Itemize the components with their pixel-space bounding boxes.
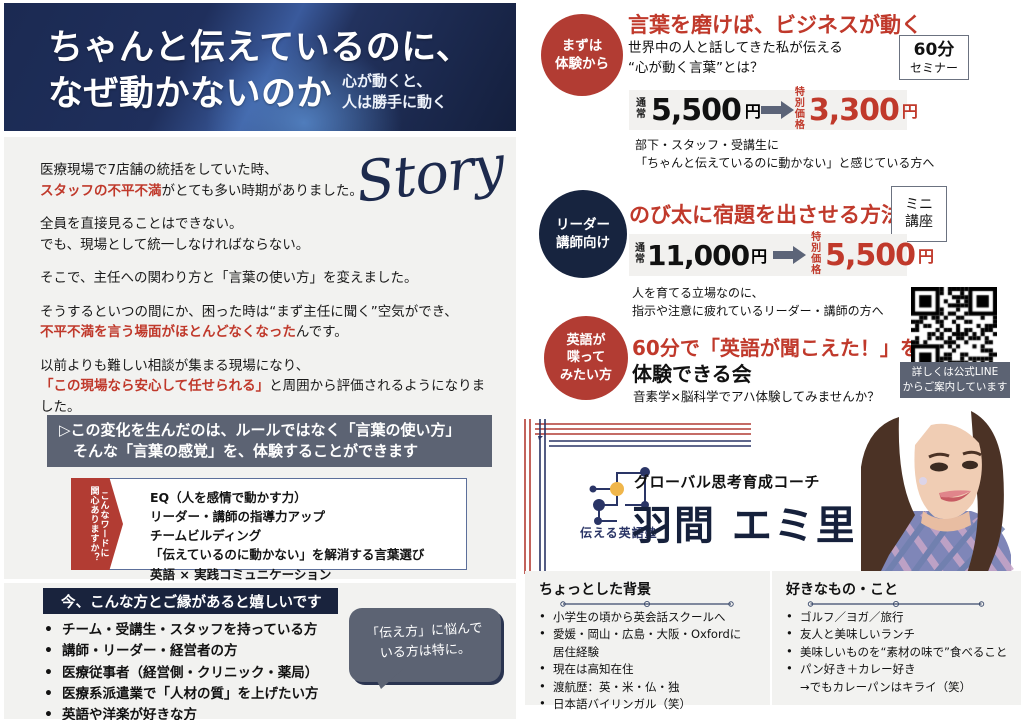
story-p4-b: んです。 [296, 324, 348, 340]
keyword-flag-line2: 関心ありますか？ [89, 486, 98, 562]
offer-1-special-price: 3,300 [809, 93, 899, 128]
offer-2-type-line2: 講座 [905, 214, 933, 231]
offer-3-title-line1: 60分で「英語が聞こえた！」を [632, 332, 920, 361]
favorites-list: ゴルフ／ヨガ／旅行 友人と美味しいランチ 美味しいものを“素材の味で”食べること… [782, 609, 1007, 696]
list-item: 愛媛・岡山・広島・大阪・Oxfordに [535, 626, 741, 643]
offer-1-subtitle: 世界中の人と話してきた私が伝える “心が動く言葉”とは？ [628, 38, 843, 79]
line-caption-line2: からご案内しています [903, 380, 1008, 395]
offer-2-badge: リーダー 講師向け [539, 190, 627, 278]
list-item: チーム・受講生・スタッフを持っている方 [36, 620, 319, 641]
keyword-item: EQ（人を感情で動かす力） [150, 488, 424, 507]
offer-1-note-line2: 「ちゃんと伝えているのに動かない」と感じている方へ [635, 154, 934, 172]
offer-1-special-yen: 円 [902, 98, 918, 122]
offer-1-duration-tag: 60分 セミナー [899, 35, 969, 80]
favorites-heading: 好きなもの・こと [786, 579, 898, 599]
list-item: 現在は高知在住 [535, 661, 741, 678]
story-paragraph-1: 医療現場で7店舗の統括をしていた時、 スタッフの不平不満がとても多い時期がありま… [40, 160, 490, 201]
change-statement-band: ▷この変化を生んだのは、ルールではなく「言葉の使い方」 そんな「言葉の感覚」を、… [47, 415, 492, 467]
offer-2-special-label: 特別 価格 [811, 233, 821, 276]
list-item: 小学生の頃から英会話スクールへ [535, 609, 741, 626]
offer-2-badge-line2: 講師向け [556, 234, 610, 252]
offer-1-price-row: 通 常 5,500 円 特別 価格 3,300 円 [629, 90, 907, 130]
change-statement-line2: そんな「言葉の感覚」を、体験することができます [59, 441, 492, 462]
profile-section: 伝える英語塾 グローバル思考育成コーチ 羽間 エミ里 EMILY [522, 409, 1024, 579]
coach-photo [853, 409, 1024, 579]
offer-1-normal-yen: 円 [745, 98, 761, 122]
offer-1-subtitle-line2: “心が動く言葉”とは？ [628, 58, 843, 78]
line-caption: 詳しくは公式LINE からご案内しています [900, 362, 1010, 398]
list-item: 渡航歴：英・米・仏・独 [535, 679, 741, 696]
offer-2-special-label-1: 特別 [811, 233, 821, 255]
keyword-flag: 関心ありますか？ こんなワードに [71, 478, 123, 570]
story-paragraph-2: 全員を直接見ることはできない。 でも、現場として統一しなければならない。 [40, 214, 490, 255]
coach-role: グローバル思考育成コーチ [634, 471, 820, 492]
list-item: ゴルフ／ヨガ／旅行 [782, 609, 1007, 626]
keyword-list: EQ（人を感情で動かす力） リーダー・講師の指導力アップ チームビルディング 「… [150, 488, 424, 584]
offer-2-special-yen: 円 [918, 243, 934, 267]
offer-3-title-line2: 体験できる会 [632, 358, 752, 387]
offer-3-badge: 英語が 喋って みたい方 [544, 316, 628, 400]
offer-2-title: のび太に宿題を出させる方法 [629, 199, 902, 229]
story-panel: Story 医療現場で7店舗の統括をしていた時、 スタッフの不平不満がとても多い… [4, 137, 516, 579]
hero-subheadline: 心が動くと、 人は勝手に動く [342, 71, 447, 114]
list-item: 講師・リーダー・経営者の方 [36, 641, 319, 662]
offer-2-normal-yen: 円 [751, 243, 767, 267]
list-item: 友人と美味しいランチ [782, 626, 1007, 643]
offer-2-price-row: 通 常 11,000 円 特別 価格 5,500 円 [629, 234, 907, 276]
offer-1-special-label: 特別 価格 [795, 88, 805, 131]
flyer-page: ちゃんと伝えているのに、 なぜ動かないのか 心が動くと、 人は勝手に動く Sto… [0, 0, 1024, 723]
offer-2-note-line2: 指示や注意に疲れているリーダー・講師の方へ [632, 302, 884, 320]
keyword-box: 関心ありますか？ こんなワードに EQ（人を感情で動かす力） リーダー・講師の指… [71, 478, 467, 570]
list-item: 医療従事者（経営側・クリニック・薬局） [36, 663, 319, 684]
story-text: 医療現場で7店舗の統括をしていた時、 スタッフの不平不満がとても多い時期がありま… [40, 160, 490, 430]
story-p4-a: そうするといつの間にか、困った時は“まず主任に聞く”空気ができ、 [40, 304, 458, 320]
arrow-right-icon [761, 100, 795, 120]
keyword-flag-line1: こんなワードに [99, 491, 108, 558]
hero-subheadline-line2: 人は勝手に動く [342, 92, 447, 113]
story-p1-highlight: スタッフの不平不満 [40, 183, 162, 199]
offer-2-normal-label: 通 常 [635, 244, 645, 266]
story-paragraph-5: 以前よりも難しい相談が集まる現場になり、 「この現場なら安心して任せられる」と周… [40, 356, 490, 418]
story-p4-highlight: 不平不満を言う場面がほとんどなくなった [40, 324, 296, 340]
list-item: 居住経験 [535, 644, 741, 661]
offer-1-normal-label: 通 常 [636, 99, 646, 121]
background-heading: ちょっとした背景 [539, 579, 651, 599]
story-p1-a: 医療現場で7店舗の統括をしていた時、 [40, 162, 278, 178]
speech-bubble: 「伝え方」に悩んで いる方は特に。 [349, 608, 501, 682]
story-p1-b: がとても多い時期がありました。 [162, 183, 363, 199]
list-item: →でもカレーパンはキライ（笑） [782, 679, 1007, 696]
offer-1-normal-label-2: 常 [636, 110, 646, 121]
offer-3-note: 音素学×脳科学でアハ体験してみませんか？ [633, 388, 880, 407]
hero-headline-line2: なぜ動かないのか [48, 65, 332, 116]
list-item: 美味しいものを“素材の味で”食べること [782, 644, 1007, 661]
offer-2-special-price: 5,500 [825, 238, 915, 273]
change-statement-line1: ▷この変化を生んだのは、ルールではなく「言葉の使い方」 [59, 420, 492, 441]
ideal-client-list: チーム・受講生・スタッフを持っている方 講師・リーダー・経営者の方 医療従事者（… [36, 620, 319, 727]
list-item: 日本語バイリンガル（笑） [535, 696, 741, 713]
offer-1-badge-line2: 体験から [555, 55, 609, 73]
keyword-item: リーダー・講師の指導力アップ [150, 507, 424, 526]
divider-ornament [531, 601, 763, 607]
offer-2-type-line1: ミニ [905, 197, 933, 214]
list-item: 医療系派遣業で「人材の質」を上げたい方 [36, 684, 319, 705]
list-item: パン好き＋カレー好き [782, 661, 1007, 678]
speech-bubble-text: 「伝え方」に悩んで いる方は特に。 [347, 604, 503, 686]
keyword-item: チームビルディング [150, 526, 424, 545]
background-list: 小学生の頃から英会話スクールへ 愛媛・岡山・広島・大阪・Oxfordに 居住経験… [535, 609, 741, 714]
story-p5-a: 以前よりも難しい相談が集まる現場になり、 [40, 358, 309, 374]
offer-3-badge-line2: 喋って [567, 349, 605, 366]
qr-code-icon[interactable] [911, 287, 997, 373]
arrow-right-icon [773, 245, 807, 265]
ideal-client-heading: 今、こんな方とご縁があると嬉しいです [43, 588, 338, 614]
hero-banner: ちゃんと伝えているのに、 なぜ動かないのか 心が動くと、 人は勝手に動く [4, 3, 516, 131]
offer-2-special-label-2: 価格 [811, 255, 821, 277]
offer-1-duration-value: 60分 [914, 40, 955, 61]
right-column: まずは 体験から 言葉を磨けば、ビジネスが動く 世界中の人と話してきた私が伝える… [522, 0, 1024, 723]
offer-2-note-line1: 人を育てる立場なのに、 [632, 284, 884, 302]
left-column: ちゃんと伝えているのに、 なぜ動かないのか 心が動くと、 人は勝手に動く Sto… [0, 0, 520, 723]
offer-1-subtitle-line1: 世界中の人と話してきた私が伝える [628, 38, 843, 58]
offer-2-note: 人を育てる立場なのに、 指示や注意に疲れているリーダー・講師の方へ [632, 284, 884, 320]
story-p5-highlight: 「この現場なら安心して任せられる」 [40, 378, 269, 394]
offer-1-title: 言葉を磨けば、ビジネスが動く [628, 9, 922, 39]
keyword-item: 英語 × 実践コミュニケーション [150, 565, 424, 584]
story-paragraph-3: そこで、主任への関わり方と「言葉の使い方」を変えました。 [40, 268, 490, 289]
hero-headline-line1: ちゃんと伝えているのに、 [48, 19, 471, 70]
offer-3-badge-line3: みたい方 [560, 367, 612, 384]
background-box: ちょっとした背景 小学生の頃から英会話スクールへ 愛媛・岡山・広島・大阪・Oxf… [525, 571, 770, 705]
offer-1-special-label-2: 価格 [795, 110, 805, 132]
keyword-item: 「伝えているのに動かない」を解消する言葉選び [150, 545, 424, 564]
line-caption-line1: 詳しくは公式LINE [912, 365, 998, 380]
story-p3: そこで、主任への関わり方と「言葉の使い方」を変えました。 [40, 270, 417, 286]
offer-1-note: 部下・スタッフ・受講生に 「ちゃんと伝えているのに動かない」と感じている方へ [635, 136, 934, 172]
hero-subheadline-line1: 心が動くと、 [342, 71, 447, 92]
offer-1-badge-line1: まずは [562, 37, 603, 55]
offer-2-badge-line1: リーダー [556, 216, 610, 234]
offer-1-badge: まずは 体験から [541, 14, 623, 96]
story-paragraph-4: そうするといつの間にか、困った時は“まず主任に聞く”空気ができ、 不平不満を言う… [40, 302, 490, 343]
list-item: 英語や洋楽が好きな方 [36, 705, 319, 726]
favorites-box: 好きなもの・こと ゴルフ／ヨガ／旅行 友人と美味しいランチ 美味しいものを“素材… [772, 571, 1021, 705]
offer-1-normal-price: 5,500 [651, 93, 741, 128]
offer-1-note-line1: 部下・スタッフ・受講生に [635, 136, 934, 154]
offer-1-duration-type: セミナー [910, 61, 958, 76]
coach-name: 羽間 エミ里 [632, 493, 858, 551]
offer-2-normal-label-2: 常 [635, 255, 645, 266]
divider-ornament [778, 601, 1014, 607]
story-p2-b: でも、現場として統一しなければならない。 [40, 237, 309, 253]
story-p2-a: 全員を直接見ることはできない。 [40, 216, 243, 232]
offer-2-normal-price: 11,000 [647, 239, 749, 272]
offer-3-badge-line1: 英語が [566, 332, 605, 349]
offer-1-special-label-1: 特別 [795, 88, 805, 110]
